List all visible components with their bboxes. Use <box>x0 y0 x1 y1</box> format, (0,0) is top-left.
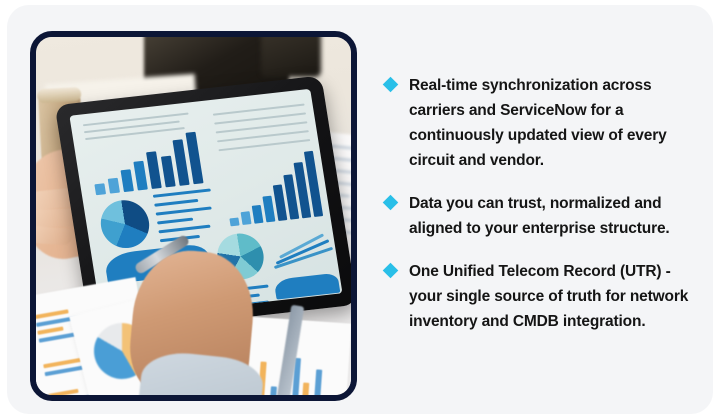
media-frame <box>30 31 357 401</box>
list-item: Real-time synchronization across carrier… <box>385 73 695 173</box>
diamond-bullet-icon <box>383 195 399 211</box>
coffee-cup-lid <box>37 87 82 103</box>
list-item: Data you can trust, normalized and align… <box>385 191 695 241</box>
feature-card: Real-time synchronization across carrier… <box>7 5 713 414</box>
feature-bullet-list: Real-time synchronization across carrier… <box>385 73 695 352</box>
bullet-text-data-you-can-trust: Data you can trust, normalized and align… <box>409 191 695 241</box>
bullet-text-real-time-synchronization: Real-time synchronization across carrier… <box>409 73 695 173</box>
bullet-text-unified-telecom-record: One Unified Telecom Record (UTR) - your … <box>409 259 695 334</box>
diamond-bullet-icon <box>383 77 399 93</box>
chart-pie-left <box>97 198 152 251</box>
chart-bar-top-left <box>88 131 208 195</box>
chart-area-right-bottom <box>274 273 341 300</box>
list-item: One Unified Telecom Record (UTR) - your … <box>385 259 695 334</box>
page-root: Real-time synchronization across carrier… <box>0 0 720 419</box>
background-monitor-secondary <box>261 37 321 77</box>
chart-bar-right <box>220 150 328 226</box>
diamond-bullet-icon <box>383 263 399 279</box>
chart-line-right <box>268 227 337 270</box>
tablet-analytics-photo <box>36 37 351 395</box>
